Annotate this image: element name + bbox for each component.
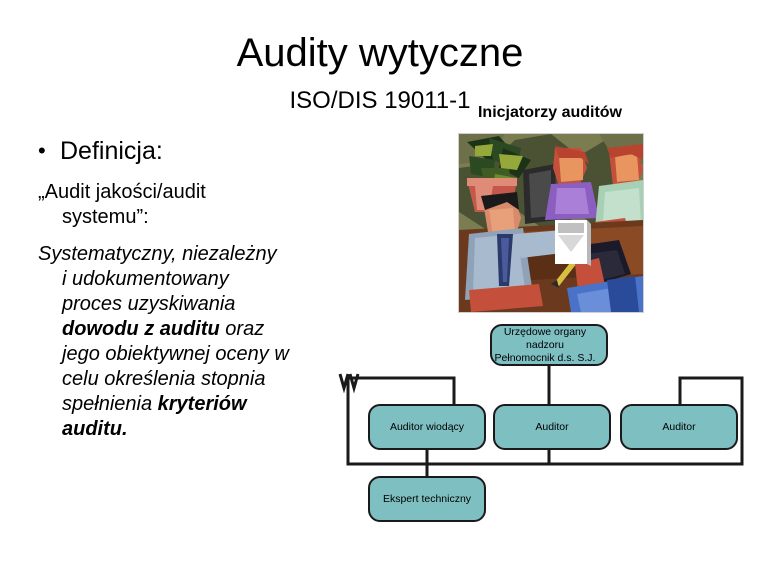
bullet-item-label: Definicja:	[60, 136, 163, 166]
definition-line-5: jego obiektywnej oceny w	[38, 342, 368, 367]
definition-line-8: auditu.	[38, 417, 368, 442]
bullet-dot-icon: •	[38, 136, 50, 166]
definition-line-7-rest: spełnienia	[62, 393, 158, 415]
org-node-supervisory-body-label: Urzędowe organy nadzoruPełnomocnik d.s. …	[484, 326, 606, 365]
definition-quote-line1: „Audit jakości/audit	[38, 181, 206, 203]
org-node-auditor-2-label: Auditor	[662, 421, 695, 434]
definition-line-4: dowodu z auditu oraz	[38, 317, 368, 342]
org-node-technical-expert-label: Ekspert techniczny	[383, 493, 471, 506]
definition-quote-line2: systemu”:	[38, 205, 368, 230]
definition-line-4-rest: oraz	[220, 318, 264, 340]
definition-line-2: i udokumentowany	[38, 267, 368, 292]
page-title: Audity wytyczne	[0, 32, 760, 74]
definition-line-6: celu określenia stopnia	[38, 367, 368, 392]
org-node-supervisory-body-line2: Pełnomocnik d.s. S.J.	[495, 352, 596, 364]
picture-caption: Inicjatorzy auditów	[452, 104, 648, 122]
org-node-auditor-1-label: Auditor	[535, 421, 568, 434]
meeting-clipart-image	[458, 133, 644, 313]
org-node-lead-auditor[interactable]: Auditor wiodący	[368, 404, 486, 450]
definition-line-7: spełnienia kryteriów	[38, 392, 368, 417]
org-chart: Urzędowe organy nadzoruPełnomocnik d.s. …	[330, 316, 760, 536]
definition-body: Systematyczny, niezależny i udokumentowa…	[38, 242, 368, 442]
definition-line-1: Systematyczny, niezależny	[38, 243, 277, 265]
bullet-item-definicja: • Definicja:	[38, 136, 368, 166]
body-text-column: • Definicja: „Audit jakości/audit system…	[38, 136, 368, 450]
org-node-technical-expert[interactable]: Ekspert techniczny	[368, 476, 486, 522]
org-node-lead-auditor-label: Auditor wiodący	[390, 421, 464, 434]
org-node-auditor-2[interactable]: Auditor	[620, 404, 738, 450]
org-node-auditor-1[interactable]: Auditor	[493, 404, 611, 450]
definition-quote: „Audit jakości/audit systemu”:	[38, 180, 368, 230]
clipart-graphic	[459, 134, 643, 312]
definition-emphasis-kryteriow: kryteriów	[158, 393, 247, 415]
org-node-supervisory-body[interactable]: Urzędowe organy nadzoruPełnomocnik d.s. …	[490, 324, 608, 366]
slide-canvas: Audity wytyczne ISO/DIS 19011-1 Inicjato…	[0, 0, 760, 570]
definition-emphasis-dowodu: dowodu z auditu	[62, 318, 220, 340]
definition-line-3: proces uzyskiwania	[38, 292, 368, 317]
org-node-supervisory-body-line1: Urzędowe organy nadzoru	[504, 326, 586, 351]
